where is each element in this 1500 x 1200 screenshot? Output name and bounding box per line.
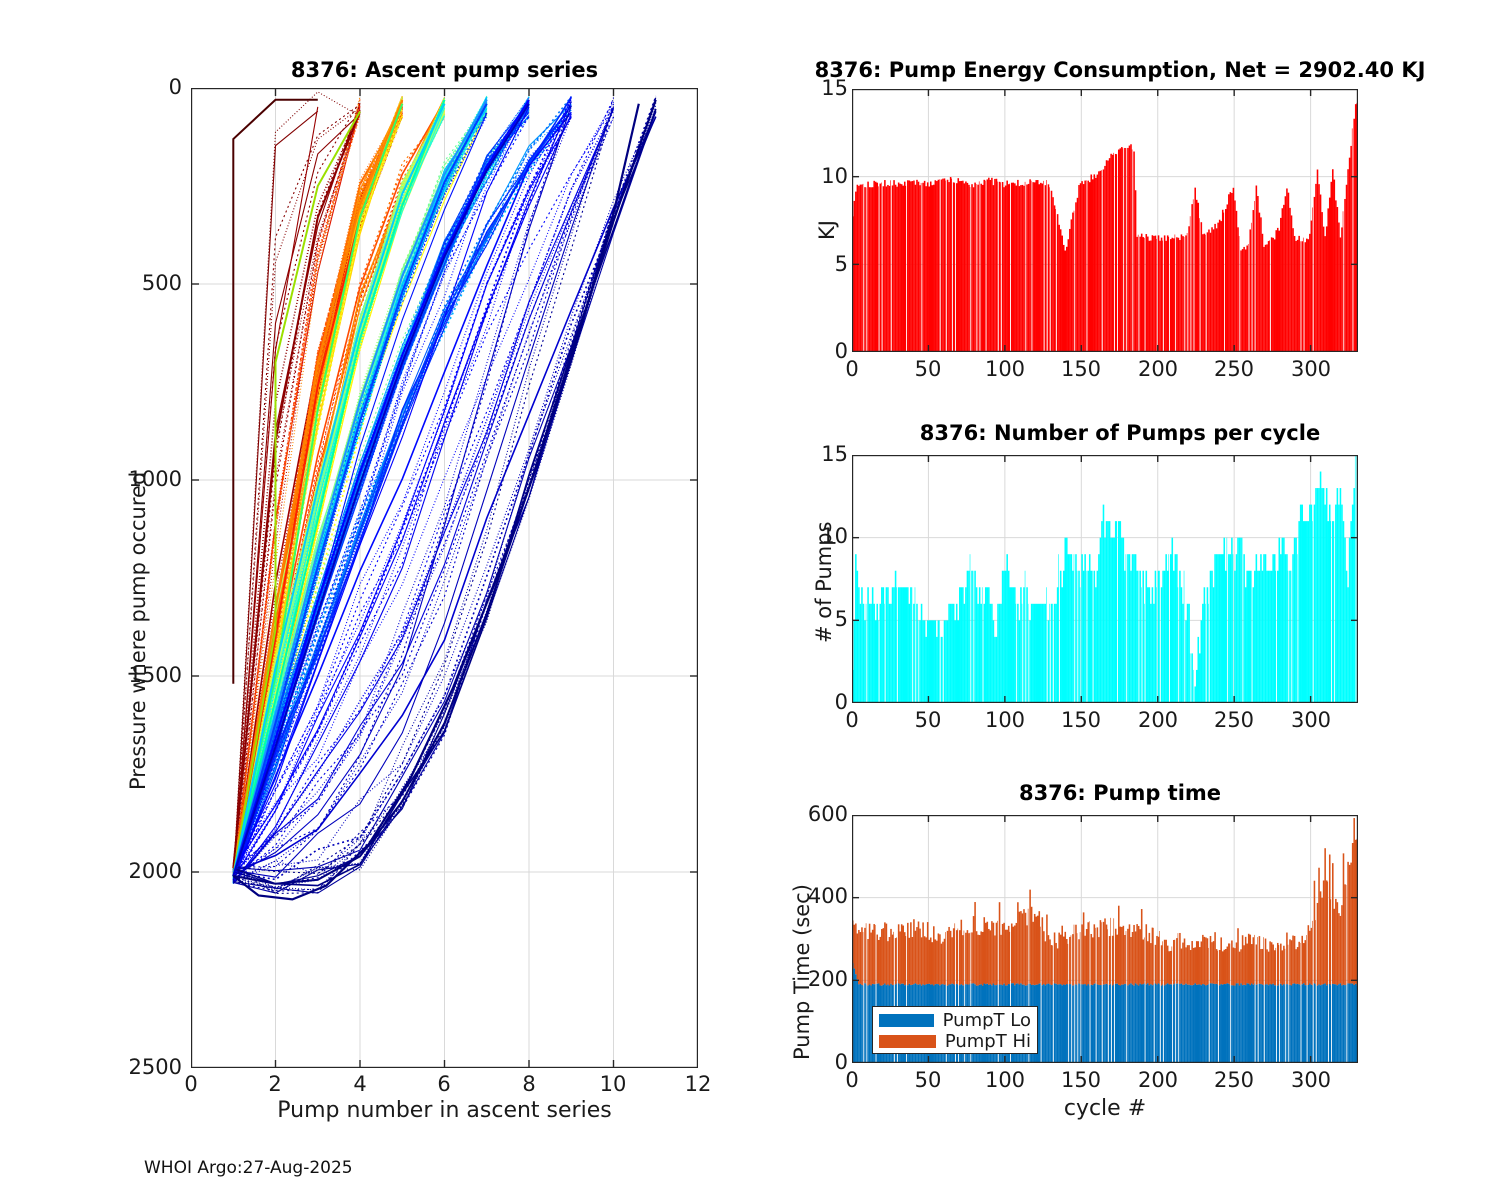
pumps-xtick-100: 100 xyxy=(980,708,1030,732)
ascent-ytick-1000: 1000 xyxy=(110,467,182,491)
ascent-ytick-0: 0 xyxy=(110,75,182,99)
energy-xtick-200: 200 xyxy=(1133,357,1183,381)
pumptime-xtick-300: 300 xyxy=(1286,1068,1336,1092)
legend-label-pumpt-lo: PumpT Lo xyxy=(943,1010,1031,1031)
legend-row-pumpt-lo: PumpT Lo xyxy=(879,1011,1031,1030)
pumps-panel-title: 8376: Number of Pumps per cycle xyxy=(740,421,1500,445)
ascent-y-axis-label: Pressure where pump occured xyxy=(126,472,150,790)
energy-y-axis-label: KJ xyxy=(815,220,839,240)
pumps-xtick-200: 200 xyxy=(1133,708,1183,732)
pumptime-x-axis-label: cycle # xyxy=(852,1096,1358,1121)
energy-panel-title: 8376: Pump Energy Consumption, Net = 290… xyxy=(740,58,1500,82)
ascent-xtick-4: 4 xyxy=(335,1072,385,1096)
legend-row-pumpt-hi: PumpT Hi xyxy=(879,1032,1031,1051)
ascent-ytick-500: 500 xyxy=(110,271,182,295)
ascent-xtick-10: 10 xyxy=(588,1072,638,1096)
ascent-plot-area xyxy=(191,88,698,1068)
pumps-xtick-300: 300 xyxy=(1286,708,1336,732)
ascent-pump-series-panel: 8376: Ascent pump series Pressure where … xyxy=(0,0,740,1160)
pumptime-xtick-250: 250 xyxy=(1209,1068,1259,1092)
ascent-xtick-0: 0 xyxy=(166,1072,216,1096)
pump-energy-panel: 8376: Pump Energy Consumption, Net = 290… xyxy=(740,0,1500,400)
legend-swatch-pumpt-hi xyxy=(879,1035,936,1048)
ascent-panel-title: 8376: Ascent pump series xyxy=(191,58,698,82)
energy-plot-area xyxy=(852,89,1358,352)
argo-pump-diagnostics-figure: 8376: Ascent pump series Pressure where … xyxy=(0,0,1500,1200)
pumptime-xtick-100: 100 xyxy=(980,1068,1030,1092)
pumptime-xtick-0: 0 xyxy=(827,1068,877,1092)
pumptime-ytick-600: 600 xyxy=(760,802,848,826)
pumptime-ytick-200: 200 xyxy=(760,967,848,991)
pumptime-panel-title: 8376: Pump time xyxy=(740,781,1500,805)
energy-ytick-5: 5 xyxy=(780,252,848,276)
pumps-plot-area xyxy=(852,455,1358,703)
ascent-ytick-2000: 2000 xyxy=(110,859,182,883)
legend-label-pumpt-hi: PumpT Hi xyxy=(945,1031,1031,1052)
pumptime-xtick-50: 50 xyxy=(903,1068,953,1092)
ascent-xtick-6: 6 xyxy=(419,1072,469,1096)
pump-time-panel: 8376: Pump time Pump Time (sec) 600 400 … xyxy=(740,760,1500,1160)
number-of-pumps-panel: 8376: Number of Pumps per cycle # of Pum… xyxy=(740,400,1500,760)
ascent-xtick-12: 12 xyxy=(673,1072,723,1096)
pumptime-xtick-150: 150 xyxy=(1056,1068,1106,1092)
pumptime-legend: PumpT Lo PumpT Hi xyxy=(872,1006,1038,1054)
pumps-ytick-15: 15 xyxy=(780,442,848,466)
energy-xtick-250: 250 xyxy=(1209,357,1259,381)
pumps-xtick-50: 50 xyxy=(903,708,953,732)
ascent-x-axis-label: Pump number in ascent series xyxy=(191,1098,698,1123)
pumptime-ytick-400: 400 xyxy=(760,884,848,908)
energy-xtick-50: 50 xyxy=(903,357,953,381)
pumps-ytick-10: 10 xyxy=(780,524,848,548)
pumps-ytick-5: 5 xyxy=(780,607,848,631)
legend-swatch-pumpt-lo xyxy=(879,1014,934,1027)
ascent-xtick-8: 8 xyxy=(504,1072,554,1096)
figure-footer-note: WHOI Argo:27-Aug-2025 xyxy=(144,1158,353,1178)
pumps-xtick-150: 150 xyxy=(1056,708,1106,732)
energy-xtick-0: 0 xyxy=(827,357,877,381)
energy-xtick-300: 300 xyxy=(1286,357,1336,381)
pumptime-xtick-200: 200 xyxy=(1133,1068,1183,1092)
pumps-xtick-250: 250 xyxy=(1209,708,1259,732)
energy-ytick-10: 10 xyxy=(780,164,848,188)
energy-ytick-15: 15 xyxy=(780,76,848,100)
energy-xtick-100: 100 xyxy=(980,357,1030,381)
pumps-xtick-0: 0 xyxy=(827,708,877,732)
ascent-ytick-1500: 1500 xyxy=(110,663,182,687)
ascent-xtick-2: 2 xyxy=(250,1072,300,1096)
energy-xtick-150: 150 xyxy=(1056,357,1106,381)
